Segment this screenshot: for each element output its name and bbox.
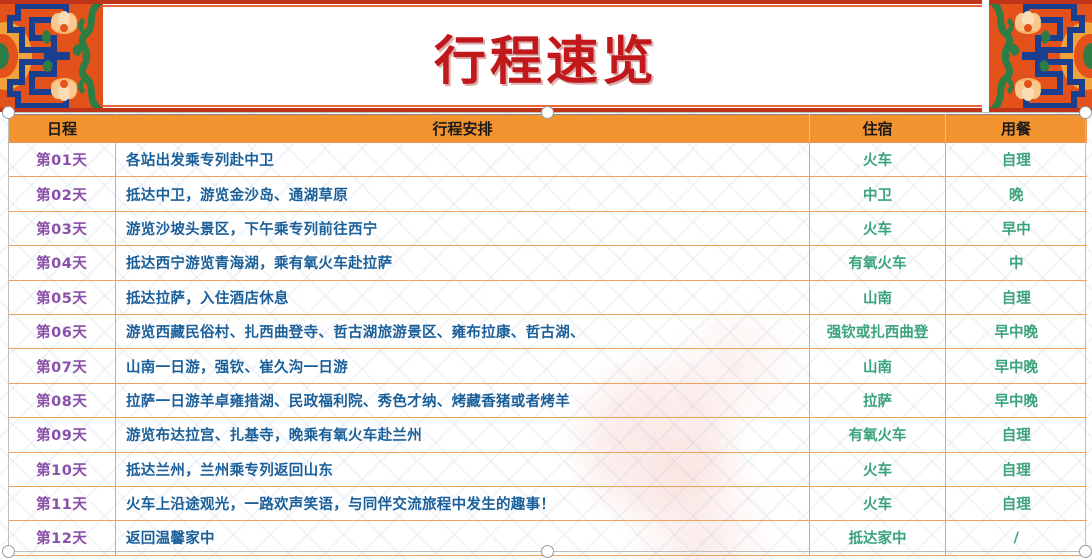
tibetan-ornament-left-icon: [0, 0, 110, 112]
column-header-plan: 行程安排: [116, 115, 810, 143]
cell-meal: 自理: [946, 143, 1087, 177]
cell-stay: 山南: [810, 280, 946, 314]
cell-day: 第03天: [9, 211, 116, 245]
selection-handle-top-left[interactable]: [2, 106, 15, 119]
cell-day: 第01天: [9, 143, 116, 177]
cell-plan: 抵达西宁游览青海湖，乘有氧火车赴拉萨: [116, 246, 810, 280]
cell-day: 第10天: [9, 452, 116, 486]
cell-plan: 拉萨一日游羊卓雍措湖、民政福利院、秀色才纳、烤藏香猪或者烤羊: [116, 383, 810, 417]
table-row[interactable]: 第08天拉萨一日游羊卓雍措湖、民政福利院、秀色才纳、烤藏香猪或者烤羊拉萨早中晚: [9, 383, 1087, 417]
table-row[interactable]: 第06天游览西藏民俗村、扎西曲登寺、哲古湖旅游景区、雍布拉康、哲古湖、强钦或扎西…: [9, 314, 1087, 348]
cell-meal: 早中: [946, 211, 1087, 245]
selection-handle-top-center[interactable]: [541, 106, 554, 119]
selection-handle-top-right[interactable]: [1079, 106, 1092, 119]
cell-day: 第08天: [9, 383, 116, 417]
cell-plan: 火车上沿途观光，一路欢声笑语，与同伴交流旅程中发生的趣事！: [116, 486, 810, 520]
cell-day: 第09天: [9, 418, 116, 452]
cell-stay: 中卫: [810, 177, 946, 211]
cell-meal: 自理: [946, 418, 1087, 452]
cell-plan: 游览布达拉宫、扎基寺，晚乘有氧火车赴兰州: [116, 418, 810, 452]
cell-day: 第06天: [9, 314, 116, 348]
title-banner: 行程速览: [0, 0, 1092, 112]
page-title: 行程速览: [103, 4, 989, 108]
table-row[interactable]: 第11天火车上沿途观光，一路欢声笑语，与同伴交流旅程中发生的趣事！火车自理: [9, 486, 1087, 520]
cell-meal: 早中晚: [946, 349, 1087, 383]
cell-stay: 有氧火车: [810, 246, 946, 280]
table-row[interactable]: 第02天抵达中卫，游览金沙岛、通湖草原中卫晚: [9, 177, 1087, 211]
cell-meal: 自理: [946, 280, 1087, 314]
cell-meal: 晚: [946, 177, 1087, 211]
table-row[interactable]: 第01天各站出发乘专列赴中卫火车自理: [9, 143, 1087, 177]
cell-stay: 火车: [810, 143, 946, 177]
cell-stay: 强钦或扎西曲登: [810, 314, 946, 348]
cell-plan: 抵达兰州，兰州乘专列返回山东: [116, 452, 810, 486]
cell-meal: 中: [946, 246, 1087, 280]
cell-day: 第11天: [9, 486, 116, 520]
cell-meal: 早中晚: [946, 383, 1087, 417]
cell-plan: 抵达拉萨，入住酒店休息: [116, 280, 810, 314]
cell-meal: 自理: [946, 486, 1087, 520]
cell-stay: 山南: [810, 349, 946, 383]
cell-day: 第04天: [9, 246, 116, 280]
table-row[interactable]: 第10天抵达兰州，兰州乘专列返回山东火车自理: [9, 452, 1087, 486]
selection-guide-right: [1085, 112, 1086, 552]
column-header-stay: 住宿: [810, 115, 946, 143]
cell-plan: 各站出发乘专列赴中卫: [116, 143, 810, 177]
selection-handle-bottom-left[interactable]: [2, 545, 15, 558]
banner-plate: 行程速览: [103, 0, 989, 112]
cell-meal: 早中晚: [946, 314, 1087, 348]
tibetan-ornament-right-icon: [982, 0, 1092, 112]
cell-stay: 火车: [810, 211, 946, 245]
cell-stay: 拉萨: [810, 383, 946, 417]
itinerary-table[interactable]: 日程 行程安排 住宿 用餐 第01天各站出发乘专列赴中卫火车自理第02天抵达中卫…: [8, 114, 1087, 556]
cell-day: 第07天: [9, 349, 116, 383]
table-body: 第01天各站出发乘专列赴中卫火车自理第02天抵达中卫，游览金沙岛、通湖草原中卫晚…: [9, 143, 1087, 556]
table-row[interactable]: 第09天游览布达拉宫、扎基寺，晚乘有氧火车赴兰州有氧火车自理: [9, 418, 1087, 452]
cell-plan: 抵达中卫，游览金沙岛、通湖草原: [116, 177, 810, 211]
column-header-day: 日程: [9, 115, 116, 143]
cell-plan: 山南一日游，强钦、崔久沟一日游: [116, 349, 810, 383]
cell-stay: 火车: [810, 486, 946, 520]
cell-plan: 游览西藏民俗村、扎西曲登寺、哲古湖旅游景区、雍布拉康、哲古湖、: [116, 314, 810, 348]
cell-plan: 游览沙坡头景区，下午乘专列前往西宁: [116, 211, 810, 245]
table-row[interactable]: 第05天抵达拉萨，入住酒店休息山南自理: [9, 280, 1087, 314]
table-row[interactable]: 第04天抵达西宁游览青海湖，乘有氧火车赴拉萨有氧火车中: [9, 246, 1087, 280]
cell-stay: 有氧火车: [810, 418, 946, 452]
selection-handle-bottom-center[interactable]: [541, 545, 554, 558]
cell-day: 第02天: [9, 177, 116, 211]
table-row[interactable]: 第07天山南一日游，强钦、崔久沟一日游山南早中晚: [9, 349, 1087, 383]
itinerary-table-container[interactable]: 日程 行程安排 住宿 用餐 第01天各站出发乘专列赴中卫火车自理第02天抵达中卫…: [8, 114, 1086, 556]
cell-day: 第05天: [9, 280, 116, 314]
column-header-meal: 用餐: [946, 115, 1087, 143]
cell-stay: 火车: [810, 452, 946, 486]
selection-handle-bottom-right[interactable]: [1079, 545, 1092, 558]
cell-meal: 自理: [946, 452, 1087, 486]
table-row[interactable]: 第03天游览沙坡头景区，下午乘专列前往西宁火车早中: [9, 211, 1087, 245]
selection-guide-left: [8, 112, 9, 552]
